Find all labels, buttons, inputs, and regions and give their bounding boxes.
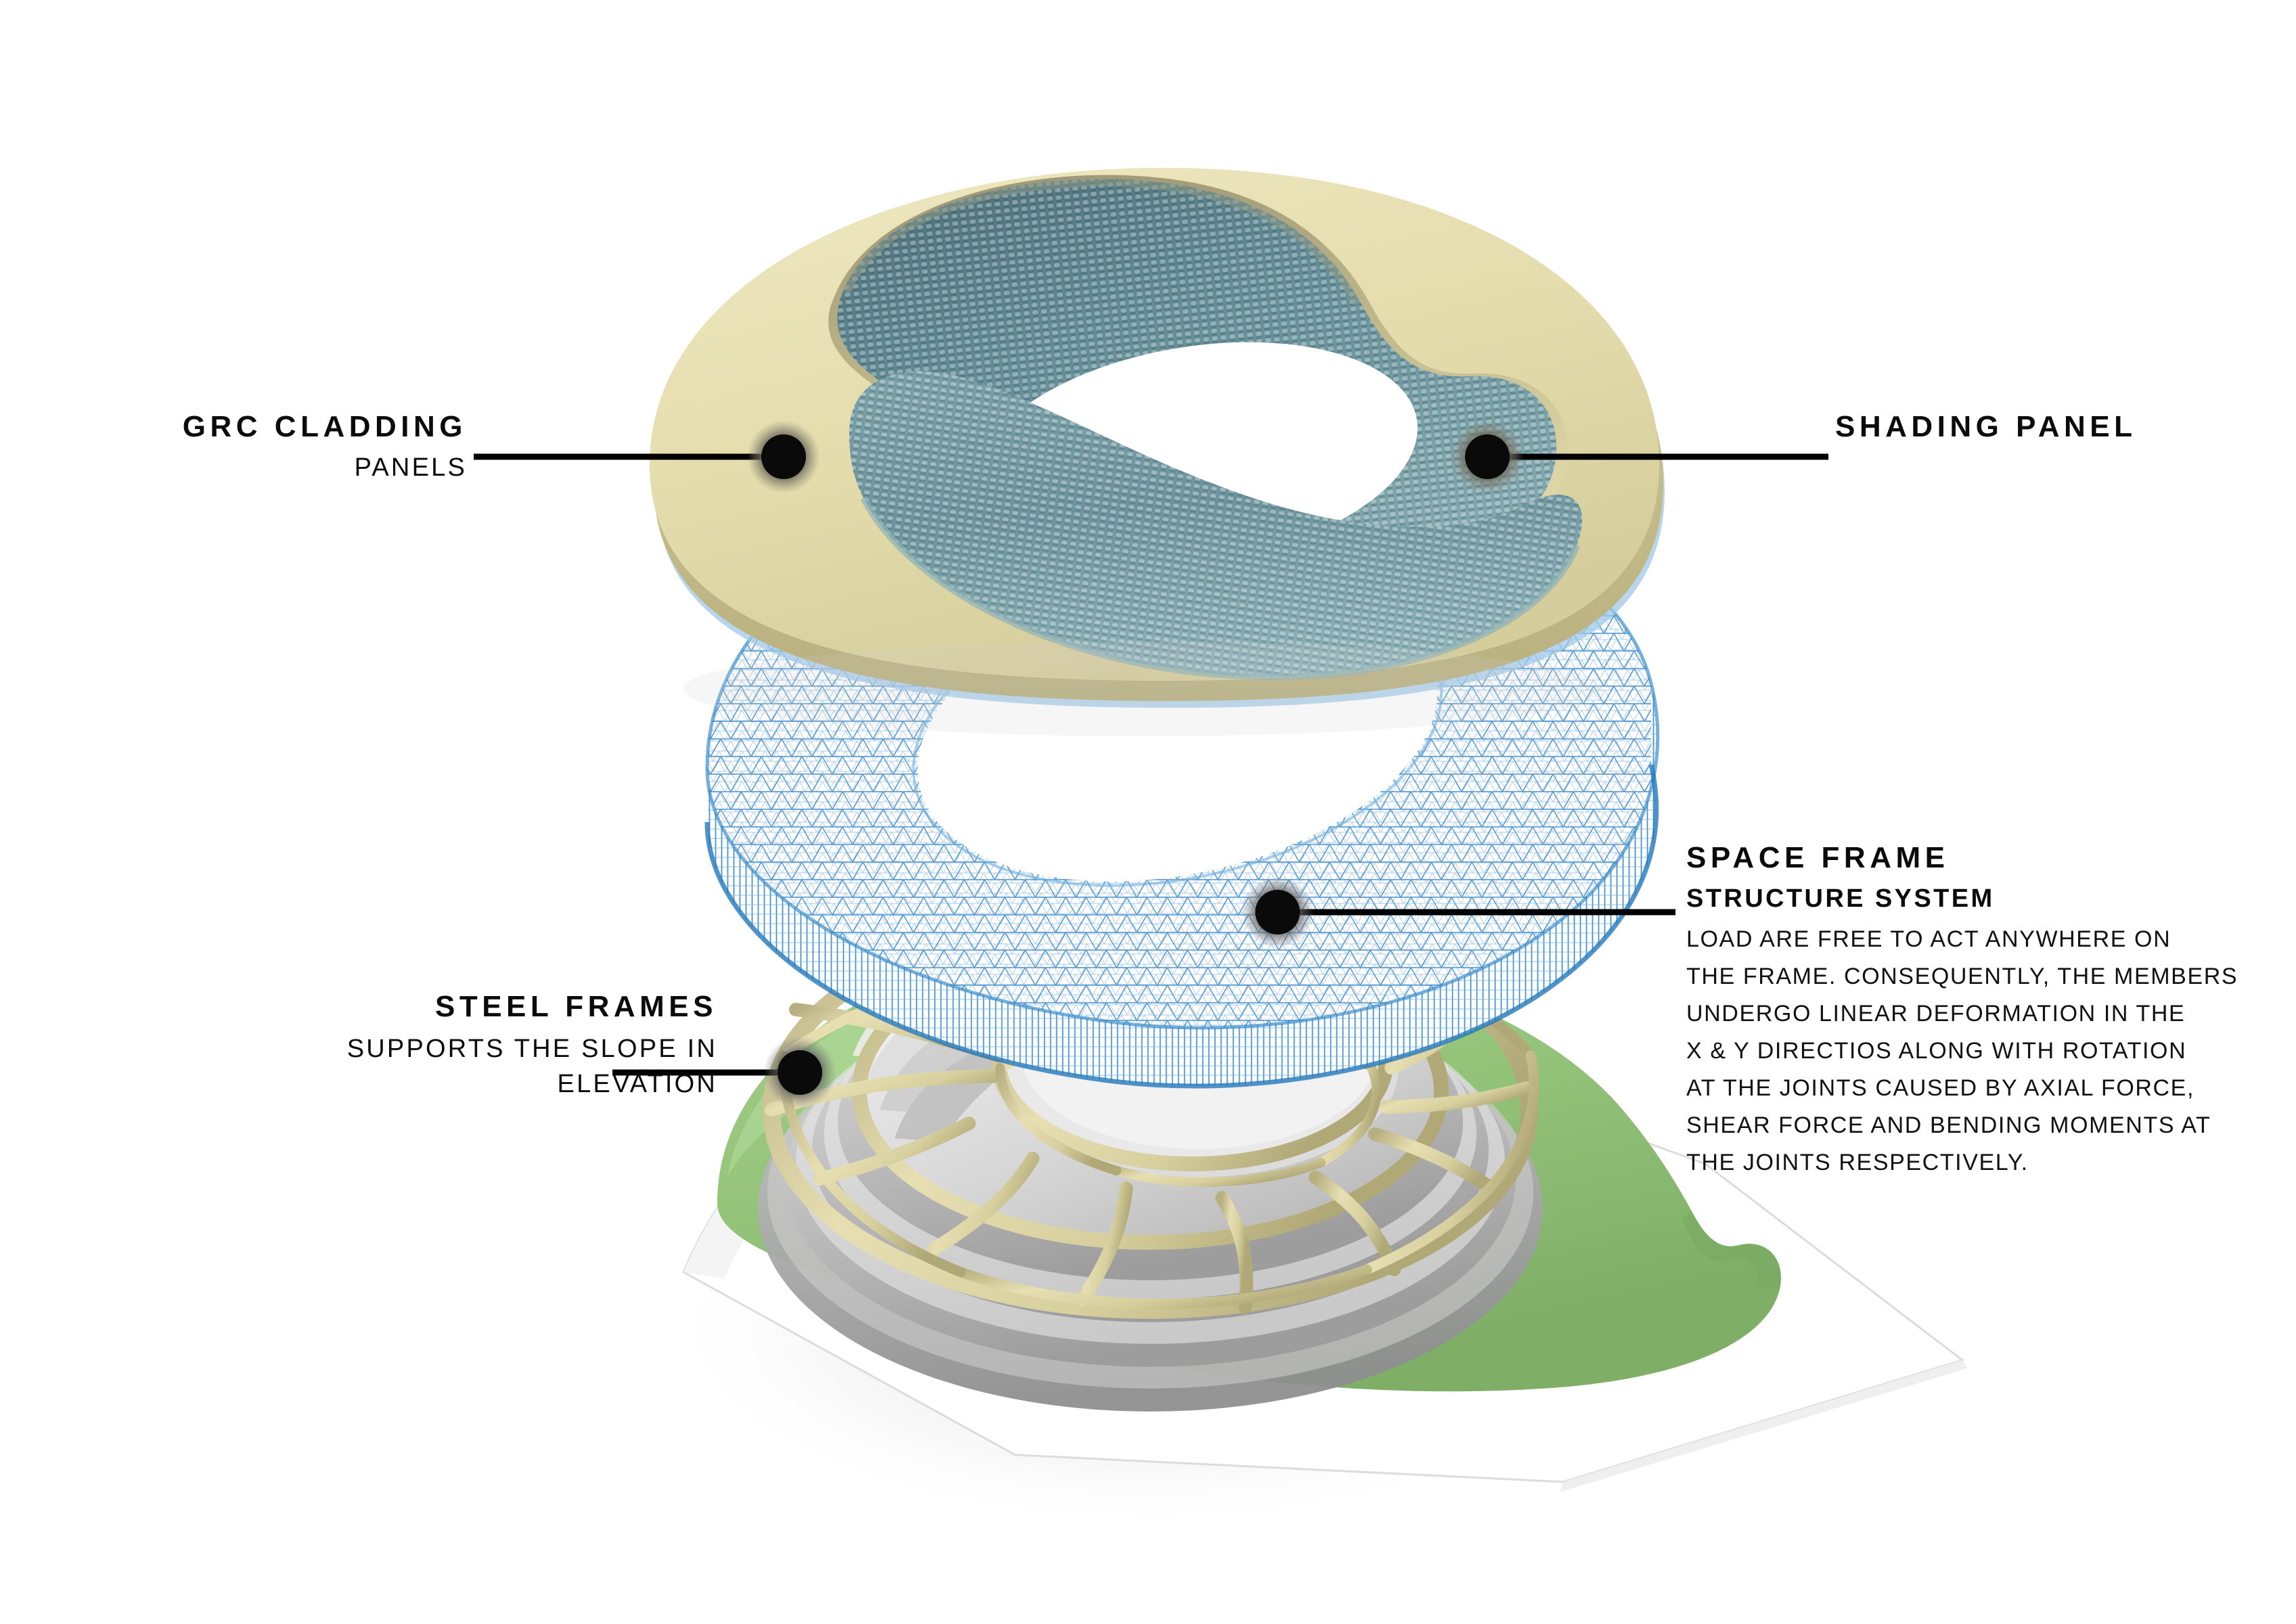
callout-space-frame: SPACE FRAME STRUCTURE SYSTEM LOAD ARE FR…	[1686, 842, 2275, 1188]
callout-steel-frames: STEEL FRAMES SUPPORTS THE SLOPE IN ELEVA…	[223, 991, 717, 1098]
exploded-assembly-illustration	[0, 0, 2296, 1624]
description-line: LOAD ARE FREE TO ACT ANYWHERE ON	[1686, 928, 2275, 951]
description-line: UNDERGO LINEAR DEFORMATION IN THE	[1686, 1002, 2275, 1025]
grc-cladding-subtitle: PANELS	[145, 455, 467, 482]
grc-cladding-title: GRC CLADDING	[145, 411, 467, 443]
steel-frames-subtitle-line2: ELEVATION	[223, 1071, 717, 1098]
callout-grc-cladding: GRC CLADDING PANELS	[145, 411, 467, 482]
steel-frames-subtitle-line1: SUPPORTS THE SLOPE IN	[223, 1036, 717, 1063]
diagram-canvas: GRC CLADDING PANELS SHADING PANEL STEEL …	[0, 0, 2296, 1624]
shade-marker-dot	[1465, 434, 1510, 479]
description-line: SHEAR FORCE AND BENDING MOMENTS AT	[1686, 1114, 2275, 1137]
description-line: X & Y DIRECTIOS ALONG WITH ROTATION	[1686, 1039, 2275, 1062]
description-line: THE JOINTS RESPECTIVELY.	[1686, 1151, 2275, 1174]
shading-panel-title: SHADING PANEL	[1835, 411, 2241, 443]
grc-marker-dot	[761, 434, 806, 479]
description-line: AT THE JOINTS CAUSED BY AXIAL FORCE,	[1686, 1077, 2275, 1100]
steel-marker-dot	[778, 1050, 822, 1095]
space-marker-dot	[1255, 890, 1300, 934]
space-frame-subtitle: STRUCTURE SYSTEM	[1686, 886, 2275, 913]
description-line: THE FRAME. CONSEQUENTLY, THE MEMBERS	[1686, 965, 2275, 988]
space-frame-title: SPACE FRAME	[1686, 842, 2275, 874]
callout-shading-panel: SHADING PANEL	[1835, 411, 2241, 443]
steel-frames-title: STEEL FRAMES	[223, 991, 717, 1022]
space-frame-description: LOAD ARE FREE TO ACT ANYWHERE ON THE FRA…	[1686, 928, 2275, 1174]
